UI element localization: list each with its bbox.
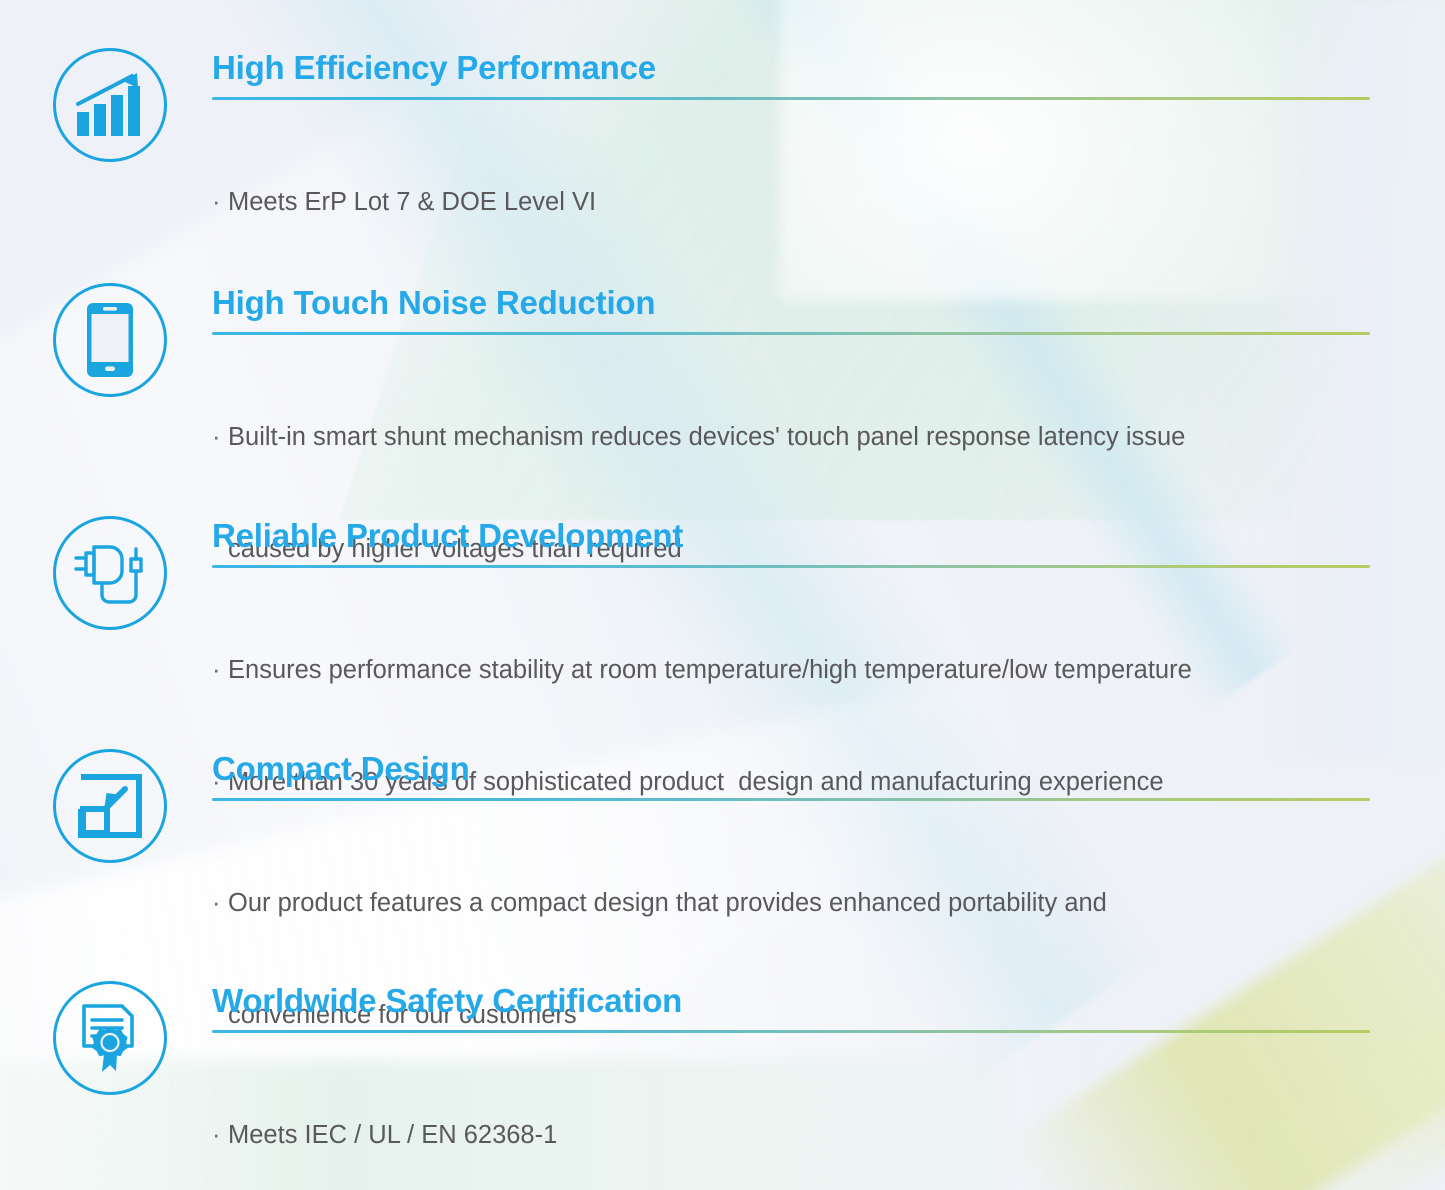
feature-item-high-efficiency-performance: High Efficiency Performance ·Meets ErP L…: [48, 46, 1370, 296]
feature-divider: [212, 332, 1370, 335]
feature-title: High Efficiency Performance: [212, 50, 1370, 86]
feature-item-worldwide-safety-certification: Worldwide Safety Certification ·Meets IE…: [48, 979, 1370, 1190]
feature-icon-container: [48, 46, 172, 162]
feature-title: Compact Design: [212, 751, 1370, 787]
power-adapter-icon: [53, 516, 167, 630]
bullet-marker: ·: [212, 419, 228, 456]
bar-chart-growth-icon: [53, 48, 167, 162]
feature-text-block: Worldwide Safety Certification ·Meets IE…: [172, 979, 1370, 1190]
features-list: High Efficiency Performance ·Meets ErP L…: [0, 0, 1445, 1190]
bullet-text: Our product features a compact design th…: [228, 889, 1107, 917]
feature-icon-container: [48, 281, 172, 397]
feature-bullet-line: ·Our product features a compact design t…: [212, 885, 1370, 922]
feature-title: High Touch Noise Reduction: [212, 285, 1370, 321]
feature-icon-container: [48, 979, 172, 1095]
bullet-marker: ·: [212, 1117, 228, 1154]
bullet-marker: ·: [212, 652, 228, 689]
feature-title: Worldwide Safety Certification: [212, 983, 1370, 1019]
certificate-seal-icon: [53, 981, 167, 1095]
feature-bullet-line: ·Ensures performance stability at room t…: [212, 652, 1370, 689]
feature-bullet-line: ·Meets IEC / UL / EN 62368-1: [212, 1117, 1370, 1154]
feature-icon-container: [48, 514, 172, 630]
feature-text-block: High Efficiency Performance ·Meets ErP L…: [172, 46, 1370, 296]
feature-divider: [212, 97, 1370, 100]
feature-divider: [212, 798, 1370, 801]
bullet-marker: ·: [212, 184, 228, 221]
feature-icon-container: [48, 747, 172, 863]
feature-bullet-line: ·Meets ErP Lot 7 & DOE Level VI: [212, 184, 1370, 221]
compact-resize-icon: [53, 749, 167, 863]
feature-title: Reliable Product Development: [212, 518, 1370, 554]
feature-highlight-page: High Efficiency Performance ·Meets ErP L…: [0, 0, 1445, 1190]
bullet-text: Ensures performance stability at room te…: [228, 656, 1192, 684]
bullet-text: Meets ErP Lot 7 & DOE Level VI: [228, 188, 596, 216]
feature-divider: [212, 565, 1370, 568]
feature-body: ·Meets IEC / UL / EN 62368-1: [212, 1043, 1370, 1190]
feature-divider: [212, 1030, 1370, 1033]
smartphone-icon: [53, 283, 167, 397]
bullet-text: Meets IEC / UL / EN 62368-1: [228, 1121, 557, 1149]
bullet-marker: ·: [212, 885, 228, 922]
feature-body: ·Meets ErP Lot 7 & DOE Level VI: [212, 110, 1370, 296]
bullet-text: Built-in smart shunt mechanism reduces d…: [228, 423, 1185, 451]
feature-bullet-line: ·Built-in smart shunt mechanism reduces …: [212, 419, 1370, 456]
